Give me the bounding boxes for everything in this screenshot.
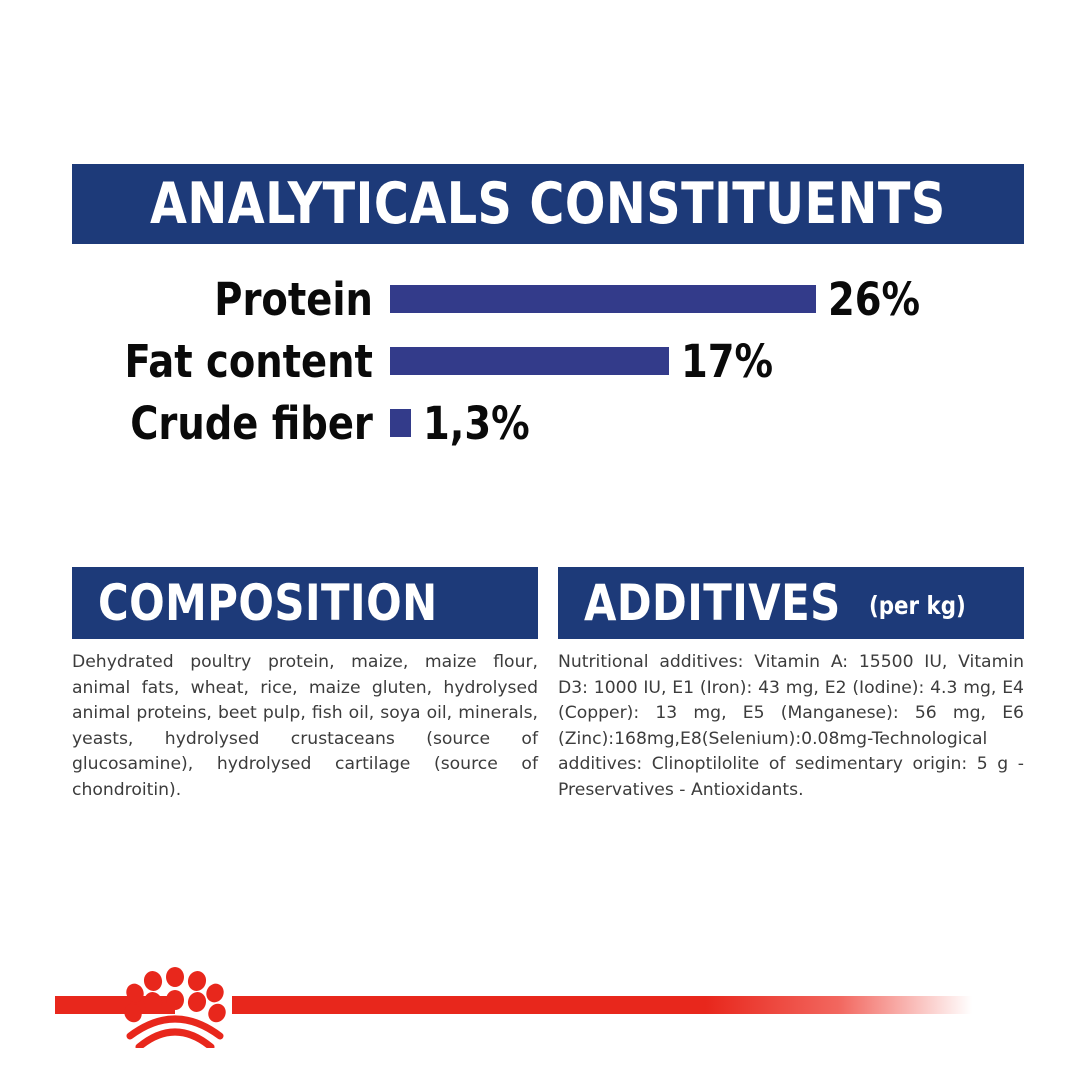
chart-label-fat-content: Fat content [88,339,390,384]
chart-bar-crude-fiber [390,409,411,437]
chart-value-crude-fiber: 1,3% [423,401,530,446]
product-info-panel: ANALYTICALS CONSTITUENTS Protein 26% Fat… [0,0,1080,1080]
additives-body-text: Nutritional additives: Vitamin A: 15500 … [558,650,1024,803]
page-title: ANALYTICALS CONSTITUENTS [150,171,946,237]
chart-row-fat-content: Fat content 17% [72,330,1024,392]
analyticals-constituents-banner: ANALYTICALS CONSTITUENTS [72,164,1024,244]
info-columns: COMPOSITION Dehydrated poultry protein, … [72,567,1024,803]
chart-row-crude-fiber: Crude fiber 1,3% [72,392,1024,454]
chart-label-crude-fiber: Crude fiber [88,401,390,446]
composition-column: COMPOSITION Dehydrated poultry protein, … [72,567,538,803]
chart-row-protein: Protein 26% [72,268,1024,330]
chart-bar-wrap-crude-fiber: 1,3% [390,401,1024,446]
composition-heading: COMPOSITION [98,574,438,632]
additives-column: ADDITIVES (per kg) Nutritional additives… [558,567,1024,803]
analyticals-bar-chart: Protein 26% Fat content 17% Crude fiber … [72,268,1024,454]
composition-banner: COMPOSITION [72,567,538,639]
royal-canin-crown-icon [120,964,230,1048]
footer-rule-right [232,996,972,1014]
chart-label-protein: Protein [88,277,390,322]
chart-bar-protein [390,285,816,313]
chart-bar-fat-content [390,347,669,375]
brand-footer [0,996,1080,1080]
chart-value-protein: 26% [828,277,920,322]
chart-bar-wrap-fat-content: 17% [390,339,1024,384]
chart-bar-wrap-protein: 26% [390,277,1024,322]
additives-heading-suffix: (per kg) [869,591,966,620]
additives-heading: ADDITIVES [584,574,841,632]
additives-banner: ADDITIVES (per kg) [558,567,1024,639]
chart-value-fat-content: 17% [681,339,773,384]
composition-body-text: Dehydrated poultry protein, maize, maize… [72,650,538,803]
